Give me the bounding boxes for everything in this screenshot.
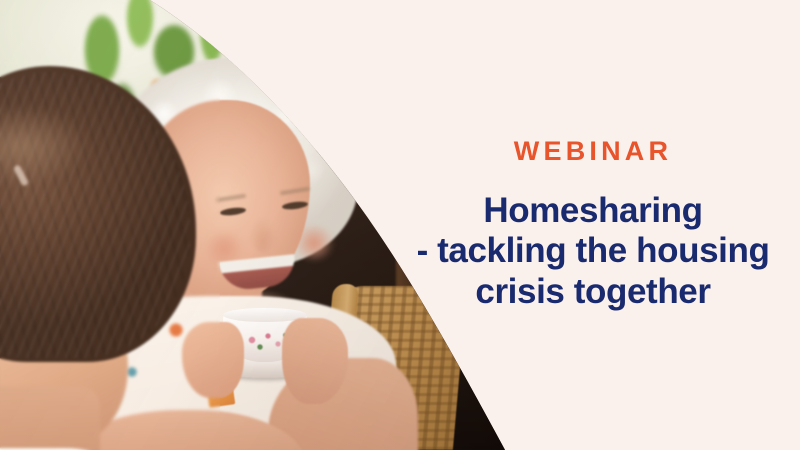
text-panel: WEBINAR Homesharing - tackling the housi… <box>386 0 800 450</box>
smiling-mouth <box>219 254 298 292</box>
younger-woman-neck <box>0 386 100 450</box>
webinar-banner: WEBINAR Homesharing - tackling the housi… <box>0 0 800 450</box>
headline-line-2: - tackling the housing <box>417 231 770 272</box>
eye-left <box>220 206 247 216</box>
headline-line-1: Homesharing <box>417 191 770 232</box>
page-title: Homesharing - tackling the housing crisi… <box>417 191 770 313</box>
cheek-right <box>292 226 336 260</box>
younger-woman <box>0 66 214 450</box>
nose <box>250 218 276 252</box>
eyebrow-label: WEBINAR <box>514 138 672 165</box>
eye-right <box>282 200 309 210</box>
headline-line-3: crisis together <box>417 272 770 313</box>
eyebrow-right <box>280 187 310 196</box>
eyebrow-left <box>216 194 246 203</box>
